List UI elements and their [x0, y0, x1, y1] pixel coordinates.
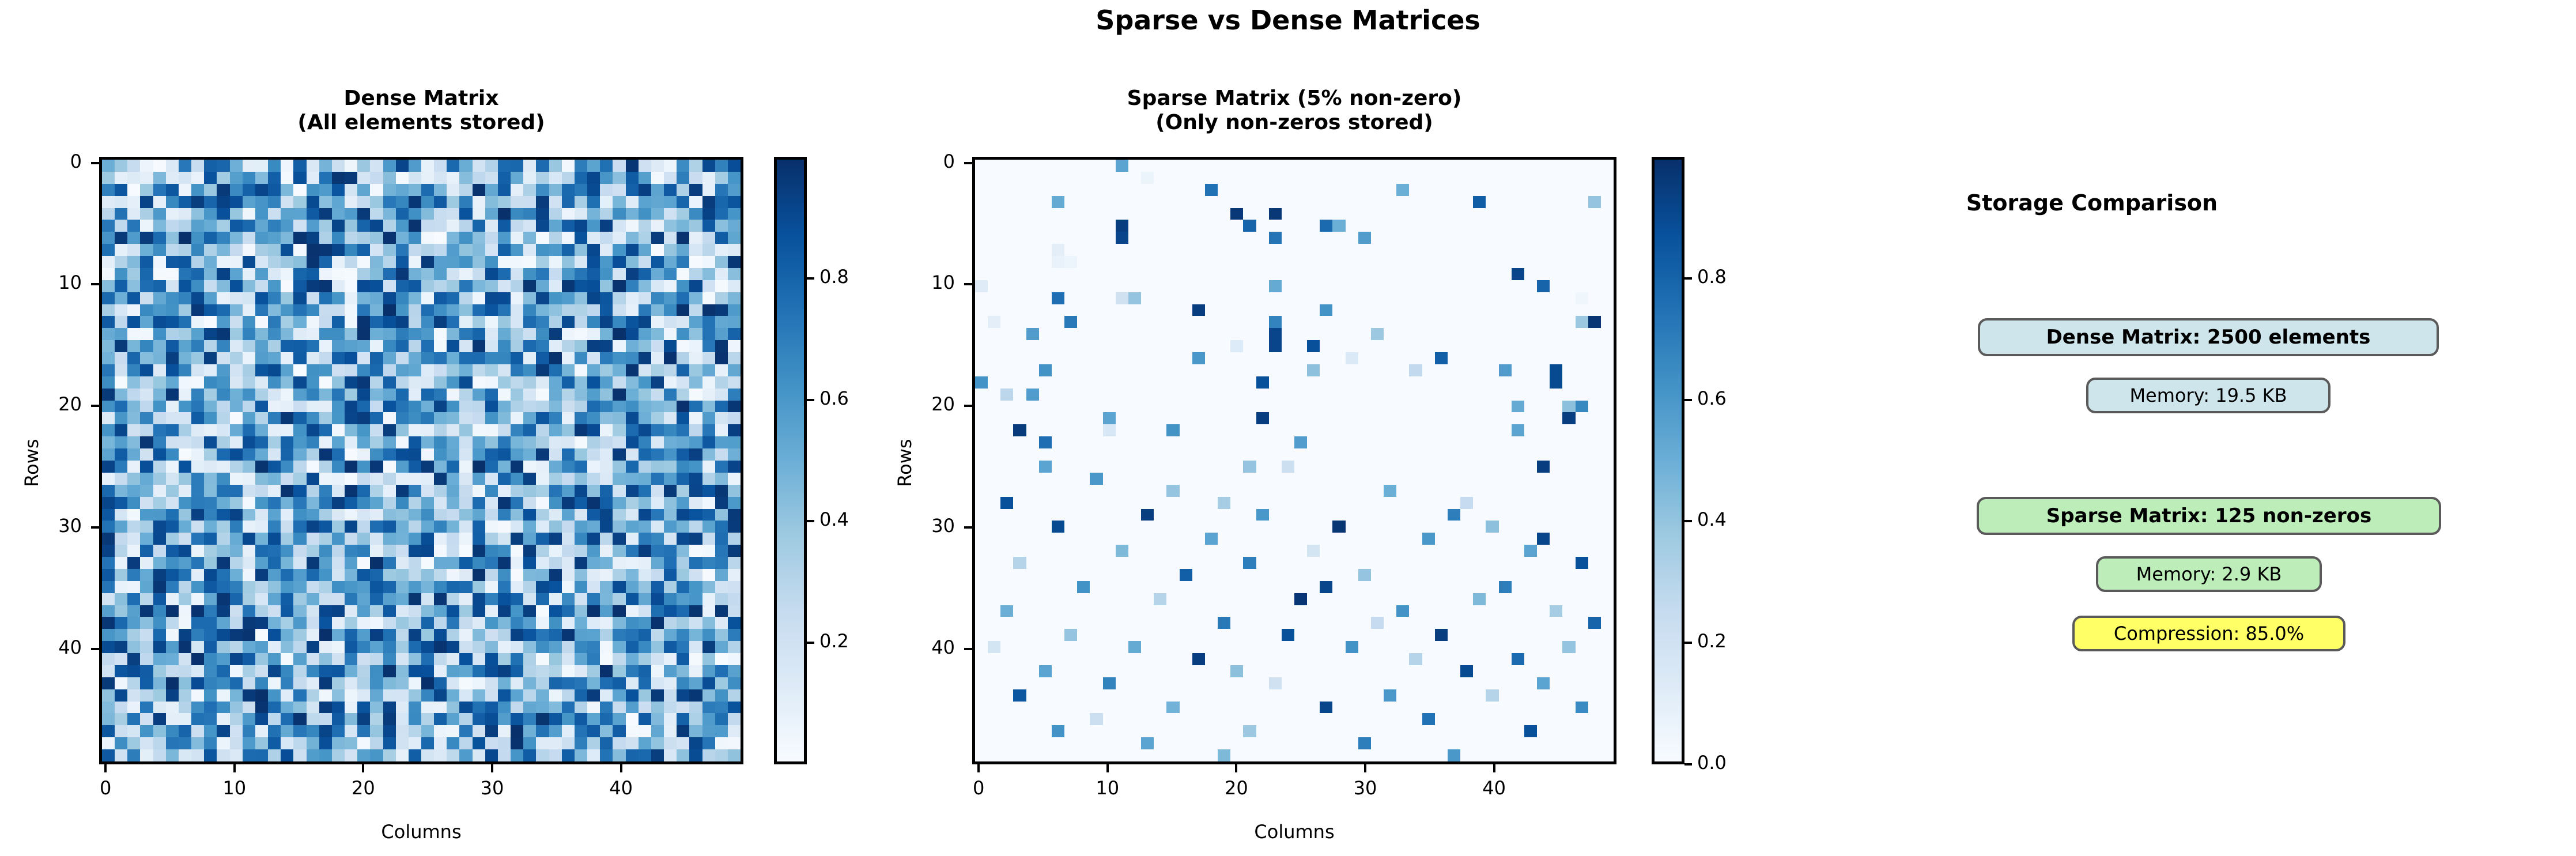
matrix-cell [702, 473, 715, 485]
matrix-cell [1371, 653, 1384, 665]
matrix-cell [702, 412, 715, 424]
matrix-cell [473, 485, 485, 497]
matrix-cell [1090, 196, 1102, 208]
matrix-cell [988, 220, 1000, 232]
matrix-cell [409, 184, 421, 196]
matrix-cell [421, 160, 434, 172]
matrix-cell [689, 665, 702, 677]
matrix-cell [1307, 448, 1320, 461]
matrix-cell [1116, 316, 1128, 328]
matrix-cell [1384, 316, 1396, 328]
matrix-cell [677, 533, 689, 545]
matrix-cell [1103, 533, 1116, 545]
matrix-cell [153, 725, 166, 737]
matrix-cell [1435, 244, 1448, 256]
matrix-cell [1000, 485, 1013, 497]
matrix-cell [332, 581, 345, 593]
sparse-matrix-title: Sparse Matrix (5% non-zero) (Only non-ze… [972, 86, 1616, 135]
matrix-cell [1052, 473, 1064, 485]
matrix-cell [1282, 545, 1294, 557]
matrix-cell [651, 316, 664, 328]
matrix-cell [1192, 533, 1205, 545]
matrix-cell [1166, 232, 1179, 244]
matrix-cell [702, 569, 715, 581]
matrix-cell [1346, 328, 1358, 340]
matrix-cell [587, 436, 600, 448]
matrix-cell [319, 412, 332, 424]
matrix-cell [217, 184, 229, 196]
matrix-cell [651, 448, 664, 461]
matrix-cell [1512, 545, 1524, 557]
matrix-cell [728, 436, 741, 448]
matrix-cell [498, 304, 511, 316]
matrix-cell [1601, 436, 1614, 448]
matrix-cell [1448, 737, 1460, 749]
matrix-cell [396, 424, 409, 436]
matrix-cell [523, 593, 536, 605]
matrix-cell [549, 653, 562, 665]
matrix-cell [511, 485, 523, 497]
matrix-cell [191, 545, 204, 557]
matrix-cell [1332, 569, 1345, 581]
matrix-cell [1358, 376, 1371, 389]
matrix-cell [536, 401, 549, 413]
matrix-cell [498, 401, 511, 413]
matrix-cell [485, 244, 498, 256]
matrix-cell [975, 316, 988, 328]
matrix-cell [473, 461, 485, 473]
matrix-cell [179, 677, 191, 689]
matrix-cell [689, 292, 702, 304]
matrix-cell [1371, 689, 1384, 702]
matrix-cell [1116, 292, 1128, 304]
matrix-cell [357, 497, 370, 509]
matrix-cell [1346, 557, 1358, 569]
matrix-cell [1180, 268, 1192, 280]
matrix-cell [511, 208, 523, 220]
matrix-cell [485, 328, 498, 340]
matrix-cell [575, 412, 587, 424]
matrix-cell [243, 268, 255, 280]
matrix-cell [1332, 702, 1345, 714]
matrix-cell [153, 172, 166, 184]
matrix-cell [1524, 184, 1537, 196]
matrix-cell [1601, 424, 1614, 436]
matrix-cell [1166, 593, 1179, 605]
dense-matrix-grid [102, 160, 741, 761]
matrix-cell [1000, 389, 1013, 401]
matrix-cell [140, 737, 153, 749]
matrix-cell [498, 220, 511, 232]
matrix-cell [179, 364, 191, 376]
matrix-cell [281, 280, 293, 292]
matrix-cell [988, 461, 1000, 473]
matrix-cell [1013, 352, 1026, 364]
matrix-cell [1307, 725, 1320, 737]
matrix-cell [1166, 244, 1179, 256]
matrix-cell [281, 316, 293, 328]
matrix-cell [639, 617, 651, 629]
matrix-cell [1116, 448, 1128, 461]
matrix-cell [1320, 665, 1332, 677]
matrix-cell [1039, 160, 1052, 172]
matrix-cell [1013, 569, 1026, 581]
matrix-cell [549, 497, 562, 509]
matrix-cell [587, 725, 600, 737]
matrix-cell [1473, 737, 1486, 749]
matrix-cell [511, 448, 523, 461]
matrix-cell [447, 268, 459, 280]
matrix-cell [1396, 677, 1409, 689]
matrix-cell [1141, 401, 1154, 413]
matrix-cell [102, 497, 115, 509]
matrix-cell [230, 268, 243, 280]
x-tick-mark [104, 764, 107, 772]
matrix-cell [575, 184, 587, 196]
matrix-cell [1269, 256, 1282, 268]
matrix-cell [1000, 653, 1013, 665]
matrix-cell [319, 328, 332, 340]
matrix-cell [1269, 461, 1282, 473]
matrix-cell [1460, 521, 1473, 533]
matrix-cell [370, 412, 383, 424]
matrix-cell [1384, 292, 1396, 304]
matrix-cell [1409, 424, 1422, 436]
matrix-cell [307, 521, 319, 533]
matrix-cell [1090, 725, 1102, 737]
matrix-cell [664, 340, 677, 352]
matrix-cell [1422, 569, 1435, 581]
matrix-cell [1512, 713, 1524, 725]
matrix-cell [268, 713, 281, 725]
matrix-cell [1116, 581, 1128, 593]
matrix-cell [1026, 232, 1039, 244]
matrix-cell [332, 629, 345, 641]
matrix-cell [1269, 509, 1282, 521]
matrix-cell [345, 713, 357, 725]
matrix-cell [1128, 184, 1141, 196]
matrix-cell [511, 424, 523, 436]
matrix-cell [268, 316, 281, 328]
matrix-cell [1294, 473, 1307, 485]
matrix-cell [370, 328, 383, 340]
matrix-cell [1512, 629, 1524, 641]
matrix-cell [728, 473, 741, 485]
matrix-cell [1422, 401, 1435, 413]
matrix-cell [1588, 220, 1601, 232]
matrix-cell [409, 629, 421, 641]
matrix-cell [702, 340, 715, 352]
matrix-cell [1180, 725, 1192, 737]
matrix-cell [370, 569, 383, 581]
matrix-cell [1524, 665, 1537, 677]
matrix-cell [268, 629, 281, 641]
matrix-cell [459, 581, 472, 593]
matrix-cell [255, 424, 268, 436]
matrix-cell [1256, 184, 1269, 196]
matrix-cell [1013, 304, 1026, 316]
matrix-cell [549, 304, 562, 316]
matrix-cell [626, 569, 639, 581]
matrix-cell [1243, 376, 1256, 389]
matrix-cell [1090, 749, 1102, 761]
matrix-cell [1307, 401, 1320, 413]
matrix-cell [689, 184, 702, 196]
matrix-cell [562, 436, 575, 448]
matrix-cell [1282, 280, 1294, 292]
matrix-cell [383, 653, 396, 665]
matrix-cell [1537, 497, 1550, 509]
matrix-cell [1064, 160, 1077, 172]
matrix-cell [975, 545, 988, 557]
matrix-cell [1052, 424, 1064, 436]
matrix-cell [1588, 702, 1601, 714]
matrix-cell [1307, 689, 1320, 702]
matrix-cell [1256, 593, 1269, 605]
matrix-cell [677, 485, 689, 497]
matrix-cell [1166, 389, 1179, 401]
matrix-cell [613, 677, 625, 689]
matrix-cell [1294, 412, 1307, 424]
matrix-cell [1499, 725, 1512, 737]
matrix-cell [651, 725, 664, 737]
matrix-cell [549, 593, 562, 605]
matrix-cell [1116, 617, 1128, 629]
matrix-cell [498, 389, 511, 401]
matrix-cell [217, 340, 229, 352]
matrix-cell [243, 737, 255, 749]
matrix-cell [1141, 160, 1154, 172]
matrix-cell [549, 557, 562, 569]
matrix-cell [1307, 713, 1320, 725]
matrix-cell [1064, 268, 1077, 280]
matrix-cell [1013, 617, 1026, 629]
matrix-cell [293, 304, 306, 316]
matrix-cell [587, 545, 600, 557]
matrix-cell [1141, 677, 1154, 689]
matrix-cell [626, 340, 639, 352]
matrix-cell [1448, 340, 1460, 352]
matrix-cell [434, 424, 447, 436]
matrix-cell [1512, 196, 1524, 208]
matrix-cell [127, 244, 140, 256]
matrix-cell [664, 485, 677, 497]
matrix-cell [523, 509, 536, 521]
matrix-cell [102, 244, 115, 256]
matrix-cell [1358, 581, 1371, 593]
matrix-cell [293, 316, 306, 328]
matrix-cell [102, 749, 115, 761]
matrix-cell [1064, 316, 1077, 328]
matrix-cell [1588, 713, 1601, 725]
matrix-cell [613, 629, 625, 641]
matrix-cell [166, 304, 179, 316]
matrix-cell [728, 340, 741, 352]
matrix-cell [1128, 172, 1141, 184]
matrix-cell [639, 725, 651, 737]
matrix-cell [1512, 364, 1524, 376]
matrix-cell [396, 268, 409, 280]
matrix-cell [702, 401, 715, 413]
matrix-cell [1524, 208, 1537, 220]
matrix-cell [255, 677, 268, 689]
matrix-cell [1588, 605, 1601, 617]
matrix-cell [1026, 412, 1039, 424]
matrix-cell [1307, 172, 1320, 184]
matrix-cell [1396, 689, 1409, 702]
matrix-cell [549, 461, 562, 473]
matrix-cell [459, 629, 472, 641]
matrix-cell [1371, 461, 1384, 473]
matrix-cell [459, 160, 472, 172]
matrix-cell [1192, 280, 1205, 292]
matrix-cell [728, 208, 741, 220]
matrix-cell [975, 533, 988, 545]
matrix-cell [1243, 172, 1256, 184]
matrix-cell [1064, 412, 1077, 424]
matrix-cell [639, 412, 651, 424]
matrix-cell [1473, 533, 1486, 545]
matrix-cell [1435, 208, 1448, 220]
matrix-cell [1332, 533, 1345, 545]
matrix-cell [1486, 364, 1498, 376]
matrix-cell [166, 172, 179, 184]
matrix-cell [1026, 184, 1039, 196]
matrix-cell [1537, 581, 1550, 593]
matrix-cell [1256, 316, 1269, 328]
matrix-cell [562, 641, 575, 653]
matrix-cell [447, 713, 459, 725]
matrix-cell [1460, 533, 1473, 545]
matrix-cell [1064, 581, 1077, 593]
matrix-cell [1346, 617, 1358, 629]
matrix-cell [115, 497, 127, 509]
matrix-cell [1588, 232, 1601, 244]
matrix-cell [1384, 424, 1396, 436]
matrix-cell [1371, 316, 1384, 328]
matrix-cell [243, 340, 255, 352]
matrix-cell [664, 557, 677, 569]
matrix-cell [511, 256, 523, 268]
matrix-cell [204, 689, 217, 702]
matrix-cell [1269, 172, 1282, 184]
matrix-cell [1588, 737, 1601, 749]
matrix-cell [626, 473, 639, 485]
matrix-cell [1013, 725, 1026, 737]
matrix-cell [1448, 304, 1460, 316]
matrix-cell [140, 713, 153, 725]
matrix-cell [626, 521, 639, 533]
matrix-cell [102, 617, 115, 629]
matrix-cell [988, 497, 1000, 509]
matrix-cell [191, 389, 204, 401]
matrix-cell [498, 737, 511, 749]
matrix-cell [1141, 545, 1154, 557]
matrix-cell [1562, 665, 1575, 677]
matrix-cell [1269, 364, 1282, 376]
matrix-cell [1473, 593, 1486, 605]
matrix-cell [1180, 424, 1192, 436]
matrix-cell [230, 376, 243, 389]
matrix-cell [1090, 557, 1102, 569]
matrix-cell [1180, 364, 1192, 376]
matrix-cell [626, 557, 639, 569]
matrix-cell [473, 605, 485, 617]
matrix-cell [1180, 160, 1192, 172]
matrix-cell [1601, 665, 1614, 677]
matrix-cell [319, 232, 332, 244]
matrix-cell [1409, 292, 1422, 304]
matrix-cell [988, 280, 1000, 292]
matrix-cell [1128, 545, 1141, 557]
matrix-cell [1052, 160, 1064, 172]
matrix-cell [179, 424, 191, 436]
matrix-cell [1000, 448, 1013, 461]
matrix-cell [1230, 461, 1243, 473]
matrix-cell [664, 725, 677, 737]
matrix-cell [434, 485, 447, 497]
matrix-cell [1562, 220, 1575, 232]
matrix-cell [536, 629, 549, 641]
matrix-cell [1307, 593, 1320, 605]
matrix-cell [115, 593, 127, 605]
matrix-cell [1282, 436, 1294, 448]
matrix-cell [715, 725, 728, 737]
matrix-cell [1601, 713, 1614, 725]
matrix-cell [511, 641, 523, 653]
matrix-cell [357, 412, 370, 424]
matrix-cell [357, 677, 370, 689]
matrix-cell [1435, 461, 1448, 473]
matrix-cell [1218, 196, 1230, 208]
matrix-cell [562, 605, 575, 617]
matrix-cell [1039, 172, 1052, 184]
matrix-cell [447, 653, 459, 665]
matrix-cell [1307, 208, 1320, 220]
matrix-cell [1243, 737, 1256, 749]
matrix-cell [702, 172, 715, 184]
matrix-cell [677, 268, 689, 280]
matrix-cell [1512, 725, 1524, 737]
matrix-cell [421, 497, 434, 509]
matrix-cell [485, 629, 498, 641]
matrix-cell [191, 617, 204, 629]
matrix-cell [281, 641, 293, 653]
matrix-cell [434, 448, 447, 461]
matrix-cell [204, 196, 217, 208]
matrix-cell [115, 702, 127, 714]
matrix-cell [677, 376, 689, 389]
matrix-cell [166, 557, 179, 569]
matrix-cell [1294, 244, 1307, 256]
matrix-cell [357, 473, 370, 485]
matrix-cell [651, 196, 664, 208]
matrix-cell [677, 244, 689, 256]
matrix-cell [1473, 605, 1486, 617]
matrix-cell [988, 268, 1000, 280]
matrix-cell [1396, 569, 1409, 581]
matrix-cell [332, 364, 345, 376]
matrix-cell [396, 665, 409, 677]
matrix-cell [217, 292, 229, 304]
matrix-cell [1524, 316, 1537, 328]
matrix-cell [1601, 593, 1614, 605]
matrix-cell [715, 702, 728, 714]
matrix-cell [1141, 208, 1154, 220]
matrix-cell [715, 617, 728, 629]
matrix-cell [127, 677, 140, 689]
matrix-cell [523, 485, 536, 497]
